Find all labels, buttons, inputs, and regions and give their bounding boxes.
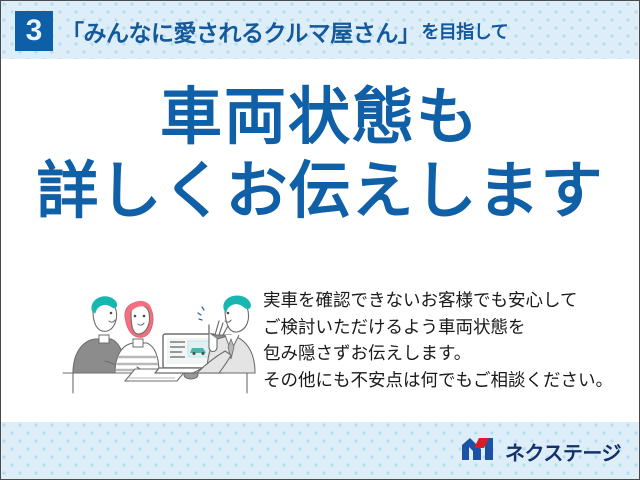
header-title-suffix: を目指して	[420, 18, 508, 44]
brand-logo: ネクステージ	[460, 436, 621, 467]
body-copy: 実車を確認できないお客様でも安心して ご検討いただけるよう車両状態を 包み隠さず…	[263, 287, 613, 393]
header-title-main: 「みんなに愛されるクルマ屋さん」	[61, 14, 420, 48]
headline-line-1: 車両状態も	[1, 87, 639, 149]
brand-logo-text: ネクステージ	[505, 437, 621, 466]
customer-consultation-illustration	[59, 277, 259, 395]
headline: 車両状態も 詳しくお伝えします	[1, 87, 639, 223]
body-copy-line-1: 実車を確認できないお客様でも安心して	[263, 287, 613, 314]
promotional-banner: 3 「みんなに愛されるクルマ屋さん」 を目指して 車両状態も 詳しくお伝えします	[0, 0, 640, 480]
header-title: 「みんなに愛されるクルマ屋さん」 を目指して	[61, 13, 508, 49]
step-number-badge: 3	[15, 11, 53, 51]
illustration-svg	[59, 277, 259, 395]
female-customer-figure	[115, 301, 159, 373]
body-copy-line-2: ご検討いただけるよう車両状態を	[263, 314, 613, 341]
nextage-n-mark-svg	[460, 436, 498, 462]
body-copy-line-3: 包み隠さずお伝えします。	[263, 340, 613, 367]
body-copy-line-4: その他にも不安点は何でもご相談ください。	[263, 367, 613, 394]
nextage-n-mark-icon	[460, 436, 498, 467]
headline-line-2: 詳しくお伝えします	[1, 161, 639, 223]
